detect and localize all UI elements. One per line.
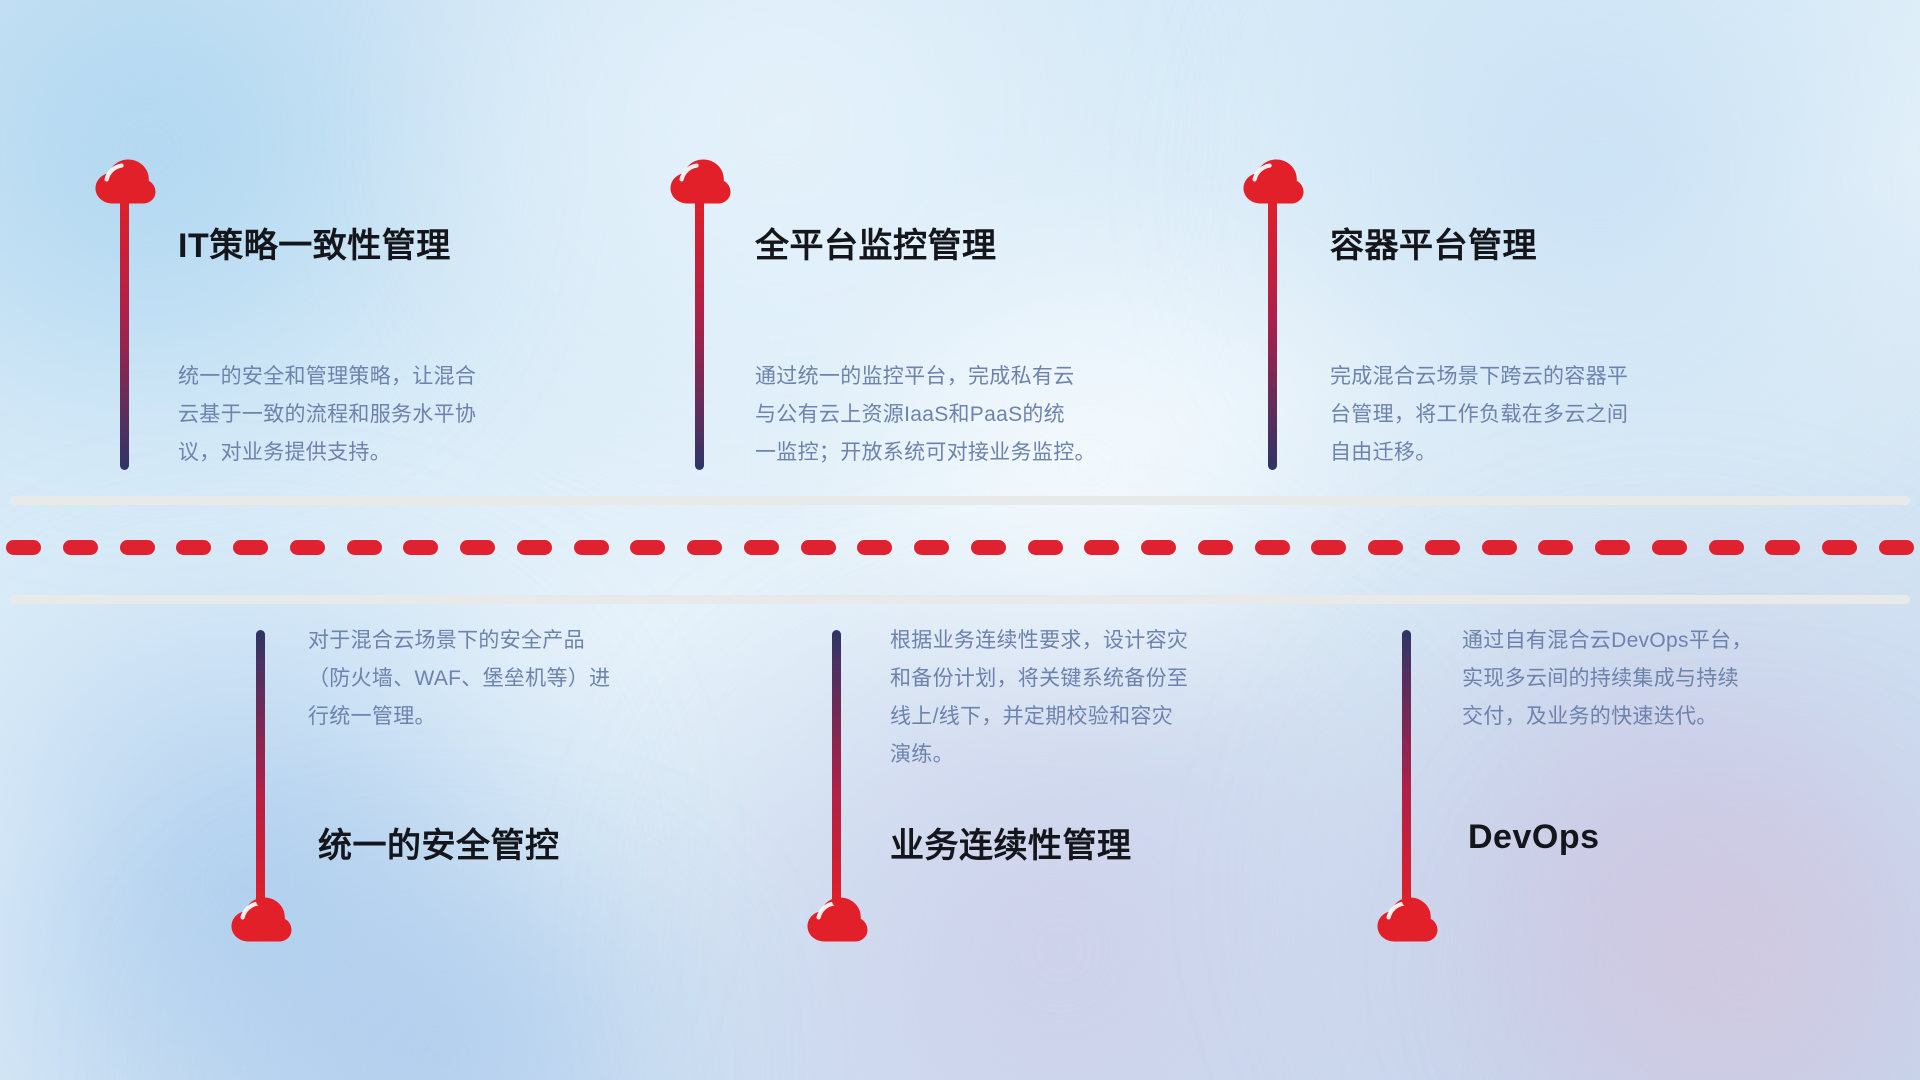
road-dash (801, 540, 836, 555)
connector-stem (832, 630, 841, 906)
card-body-text: 根据业务连续性要求，设计容灾 和备份计划，将关键系统备份至 线上/线下，并定期校… (890, 622, 1320, 774)
card-heading: 全平台监控管理 (755, 218, 997, 267)
road-dash (1652, 540, 1687, 555)
road-dash (1709, 540, 1744, 555)
road-dash (403, 540, 438, 555)
road-dash (176, 540, 211, 555)
infographic-canvas: IT策略一致性管理统一的安全和管理策略，让混合 云基于一致的流程和服务水平协 议… (0, 0, 1920, 1080)
road-dash (1311, 540, 1346, 555)
road-dash (1765, 540, 1800, 555)
card-heading: IT策略一致性管理 (178, 218, 451, 267)
card-heading: DevOps (1468, 818, 1600, 857)
connector-stem (256, 630, 265, 906)
bottom-row: 统一的安全管控对于混合云场景下的安全产品 （防火墙、WAF、堡垒机等）进 行统一… (0, 600, 1920, 1080)
road-dash (914, 540, 949, 555)
road-dash (63, 540, 98, 555)
road-dash (857, 540, 892, 555)
road-dash (1538, 540, 1573, 555)
road-dash (460, 540, 495, 555)
card-body-text: 通过自有混合云DevOps平台， 实现多云间的持续集成与持续 交付，及业务的快速… (1462, 622, 1902, 736)
road-dash (1879, 540, 1914, 555)
road-dash (971, 540, 1006, 555)
road-dash (6, 540, 41, 555)
road-dash (347, 540, 382, 555)
road-divider (0, 490, 1920, 610)
top-row: IT策略一致性管理统一的安全和管理策略，让混合 云基于一致的流程和服务水平协 议… (0, 0, 1920, 490)
connector-stem (695, 198, 704, 470)
road-dash (290, 540, 325, 555)
road-dash (1425, 540, 1460, 555)
road-dash (1368, 540, 1403, 555)
card-heading: 业务连续性管理 (890, 818, 1132, 867)
card-body-text: 完成混合云场景下跨云的容器平 台管理，将工作负载在多云之间 自由迁移。 (1330, 358, 1770, 472)
road-dash (744, 540, 779, 555)
road-dash (1198, 540, 1233, 555)
connector-stem (1268, 198, 1277, 470)
road-dash (517, 540, 552, 555)
road-dash (1028, 540, 1063, 555)
road-dash (1255, 540, 1290, 555)
card-body-text: 对于混合云场景下的安全产品 （防火墙、WAF、堡垒机等）进 行统一管理。 (308, 622, 738, 736)
road-dash (630, 540, 665, 555)
card-heading: 容器平台管理 (1330, 218, 1537, 267)
road-dash (574, 540, 609, 555)
road-dash (1595, 540, 1630, 555)
road-dash (1141, 540, 1176, 555)
road-dash (233, 540, 268, 555)
road-dash (1822, 540, 1857, 555)
road-dash (1084, 540, 1119, 555)
card-heading: 统一的安全管控 (318, 818, 560, 867)
road-dash (120, 540, 155, 555)
connector-stem (1402, 630, 1411, 906)
card-body-text: 统一的安全和管理策略，让混合 云基于一致的流程和服务水平协 议，对业务提供支持。 (178, 358, 608, 472)
road-dash (687, 540, 722, 555)
card-body-text: 通过统一的监控平台，完成私有云 与公有云上资源IaaS和PaaS的统 一监控；开… (755, 358, 1205, 472)
road-dash (1482, 540, 1517, 555)
road-dashes (0, 540, 1920, 555)
connector-stem (120, 198, 129, 470)
road-edge-top (10, 496, 1910, 505)
